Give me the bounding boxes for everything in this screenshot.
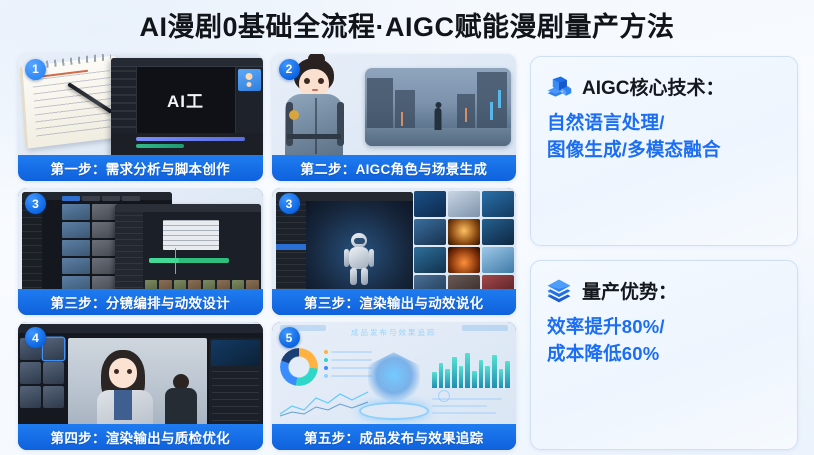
motion-editor-window — [115, 204, 261, 289]
step-card-5[interactable]: 4 — [18, 322, 263, 449]
step-image-4: 3 — [272, 188, 517, 289]
step-caption-6: 第五步：成品发布与效果追踪 — [272, 424, 517, 450]
panel-line-1-1: 成本降低60% — [547, 341, 785, 368]
panel-aigc-core-tech: AIGC核心技术： 自然语言处理/ 图像生成/多模态融合 — [530, 56, 798, 246]
step-caption-2: 第二步：AIGC角色与场景生成 — [272, 155, 517, 181]
step-badge-1: 1 — [25, 59, 46, 80]
step-badge-6: 5 — [279, 327, 300, 348]
ai-scene-illustration — [365, 68, 511, 146]
step-card-4[interactable]: 3 — [272, 188, 517, 315]
donut-chart — [280, 348, 318, 386]
qc-app-window — [18, 324, 263, 423]
panel-title-1: 量产优势： — [582, 277, 677, 304]
bar-chart — [432, 350, 510, 388]
step-caption-1: 第一步：需求分析与脚本创作 — [18, 155, 263, 181]
step-caption-3: 第三步：分镜编排与动效设计 — [18, 289, 263, 315]
cube-stack-icon — [545, 73, 573, 101]
steps-grid: 1 AI工 — [18, 54, 516, 450]
editor-canvas-text: AI工 — [167, 87, 204, 112]
status-list — [432, 398, 510, 419]
dashboard-title: 成品发布与效果追踪 — [351, 327, 437, 338]
step-badge-3: 3 — [25, 193, 46, 214]
panel-title-0: AIGC核心技术： — [582, 73, 725, 100]
render-gallery — [414, 191, 514, 289]
line-chart — [278, 388, 370, 418]
step-image-3: 3 — [18, 188, 263, 289]
panel-line-0-0: 自然语言处理/ — [547, 110, 785, 137]
step-card-6[interactable]: 5 成品发布与效果追踪 — [272, 322, 517, 449]
info-panels: AIGC核心技术： 自然语言处理/ 图像生成/多模态融合 量产优势： — [530, 54, 798, 450]
donut-legend — [324, 350, 372, 382]
layers-icon — [545, 277, 573, 305]
step-badge-2: 2 — [279, 59, 300, 80]
page-title: AI漫剧0基础全流程·AIGC赋能漫剧量产方法 — [0, 0, 814, 45]
qc-preview-stage — [68, 338, 207, 423]
step-image-1: 1 AI工 — [18, 54, 263, 155]
step-card-3[interactable]: 3 — [18, 188, 263, 315]
panel-mass-production-advantage: 量产优势： 效率提升80%/ 成本降低60% — [530, 260, 798, 450]
step-card-1[interactable]: 1 AI工 — [18, 54, 263, 181]
step-image-6: 5 成品发布与效果追踪 — [272, 322, 517, 423]
video-editor-screen: AI工 — [111, 58, 263, 155]
robot-model — [344, 233, 374, 285]
step-badge-4: 3 — [279, 193, 300, 214]
hologram-hex — [368, 352, 420, 404]
step-image-5: 4 — [18, 322, 263, 423]
panel-line-1-0: 效率提升80%/ — [547, 314, 785, 341]
step-card-2[interactable]: 2 — [272, 54, 517, 181]
step-caption-4: 第三步：渲染输出与动效说化 — [272, 289, 517, 315]
panel-line-0-1: 图像生成/多模态融合 — [547, 137, 785, 164]
step-image-2: 2 — [272, 54, 517, 155]
content-area: 1 AI工 — [0, 45, 814, 450]
step-caption-5: 第四步：渲染输出与质检优化 — [18, 424, 263, 450]
